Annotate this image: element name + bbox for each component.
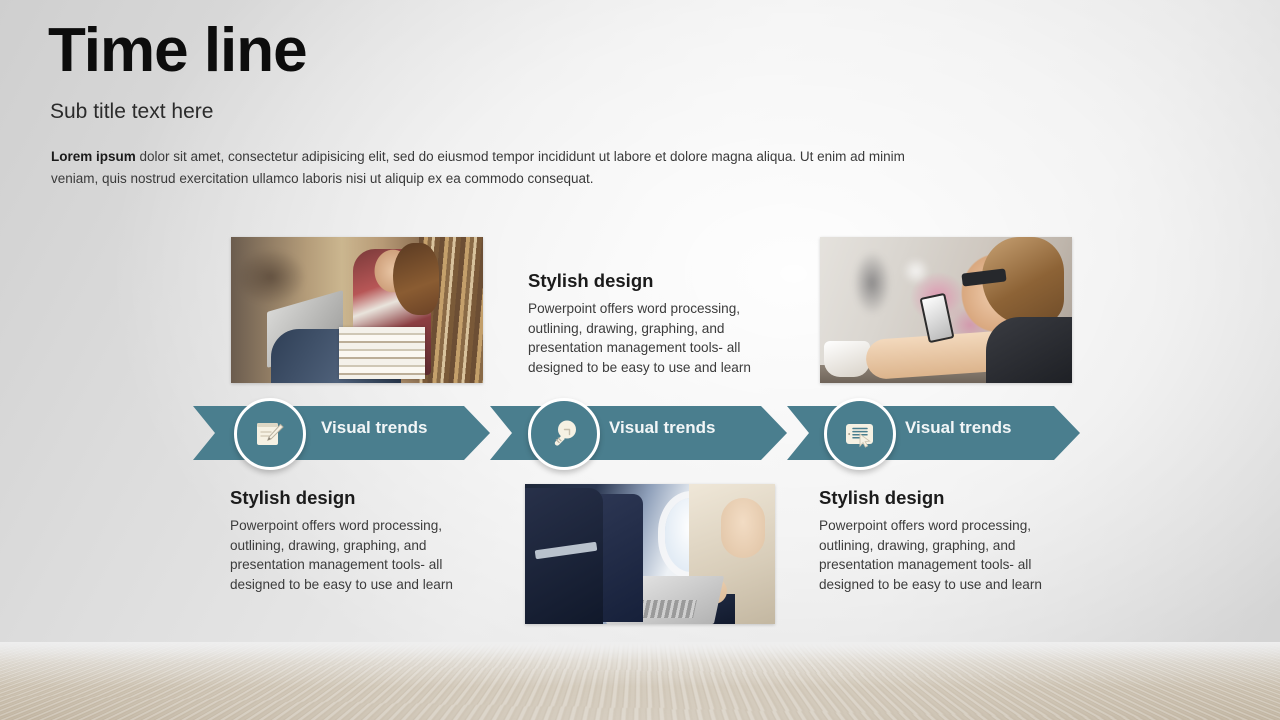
feature-heading: Stylish design bbox=[528, 270, 790, 292]
woman-using-laptop-on-airplane-photo bbox=[525, 484, 775, 624]
hair-shape bbox=[393, 243, 439, 315]
feature-block-bottom-right: Stylish design Powerpoint offers word pr… bbox=[819, 487, 1081, 595]
coffee-cup-shape bbox=[824, 341, 870, 377]
intro-lead-bold: Lorem ipsum bbox=[51, 149, 136, 164]
girl-studying-in-library-photo bbox=[231, 237, 483, 383]
book-stack-shape bbox=[339, 327, 425, 379]
page-subtitle: Sub title text here bbox=[50, 100, 213, 124]
woman-using-smartphone-outdoors-photo bbox=[820, 237, 1072, 383]
timeline-band: Visual trends Visual trends Visual trend… bbox=[0, 398, 1280, 470]
neck-shape bbox=[721, 498, 765, 558]
timeline-step-3-node[interactable] bbox=[824, 398, 896, 470]
wooden-floor-background bbox=[0, 642, 1280, 720]
timeline-step-3-label: Visual trends bbox=[905, 418, 1011, 438]
timeline-step-1-node[interactable] bbox=[234, 398, 306, 470]
intro-paragraph: Lorem ipsum dolor sit amet, consectetur … bbox=[51, 146, 913, 190]
photo-layer bbox=[525, 484, 775, 624]
timeline-step-2-label: Visual trends bbox=[609, 418, 715, 438]
tank-top-shape bbox=[986, 317, 1072, 383]
feature-heading: Stylish design bbox=[230, 487, 492, 509]
timeline-step-2-node[interactable] bbox=[528, 398, 600, 470]
photo-layer bbox=[820, 237, 1072, 383]
feature-body: Powerpoint offers word processing, outli… bbox=[528, 299, 790, 378]
feature-body: Powerpoint offers word processing, outli… bbox=[819, 516, 1081, 595]
slide-canvas: Time line Sub title text here Lorem ipsu… bbox=[0, 0, 1280, 720]
feature-block-top-center: Stylish design Powerpoint offers word pr… bbox=[528, 270, 790, 378]
feature-block-bottom-left: Stylish design Powerpoint offers word pr… bbox=[230, 487, 492, 595]
intro-lead-rest: dolor sit amet, consectetur adipisicing … bbox=[51, 149, 905, 186]
feature-heading: Stylish design bbox=[819, 487, 1081, 509]
page-title: Time line bbox=[48, 18, 307, 83]
photo-layer bbox=[231, 237, 483, 383]
timeline-step-1-label: Visual trends bbox=[321, 418, 427, 438]
feature-body: Powerpoint offers word processing, outli… bbox=[230, 516, 492, 595]
